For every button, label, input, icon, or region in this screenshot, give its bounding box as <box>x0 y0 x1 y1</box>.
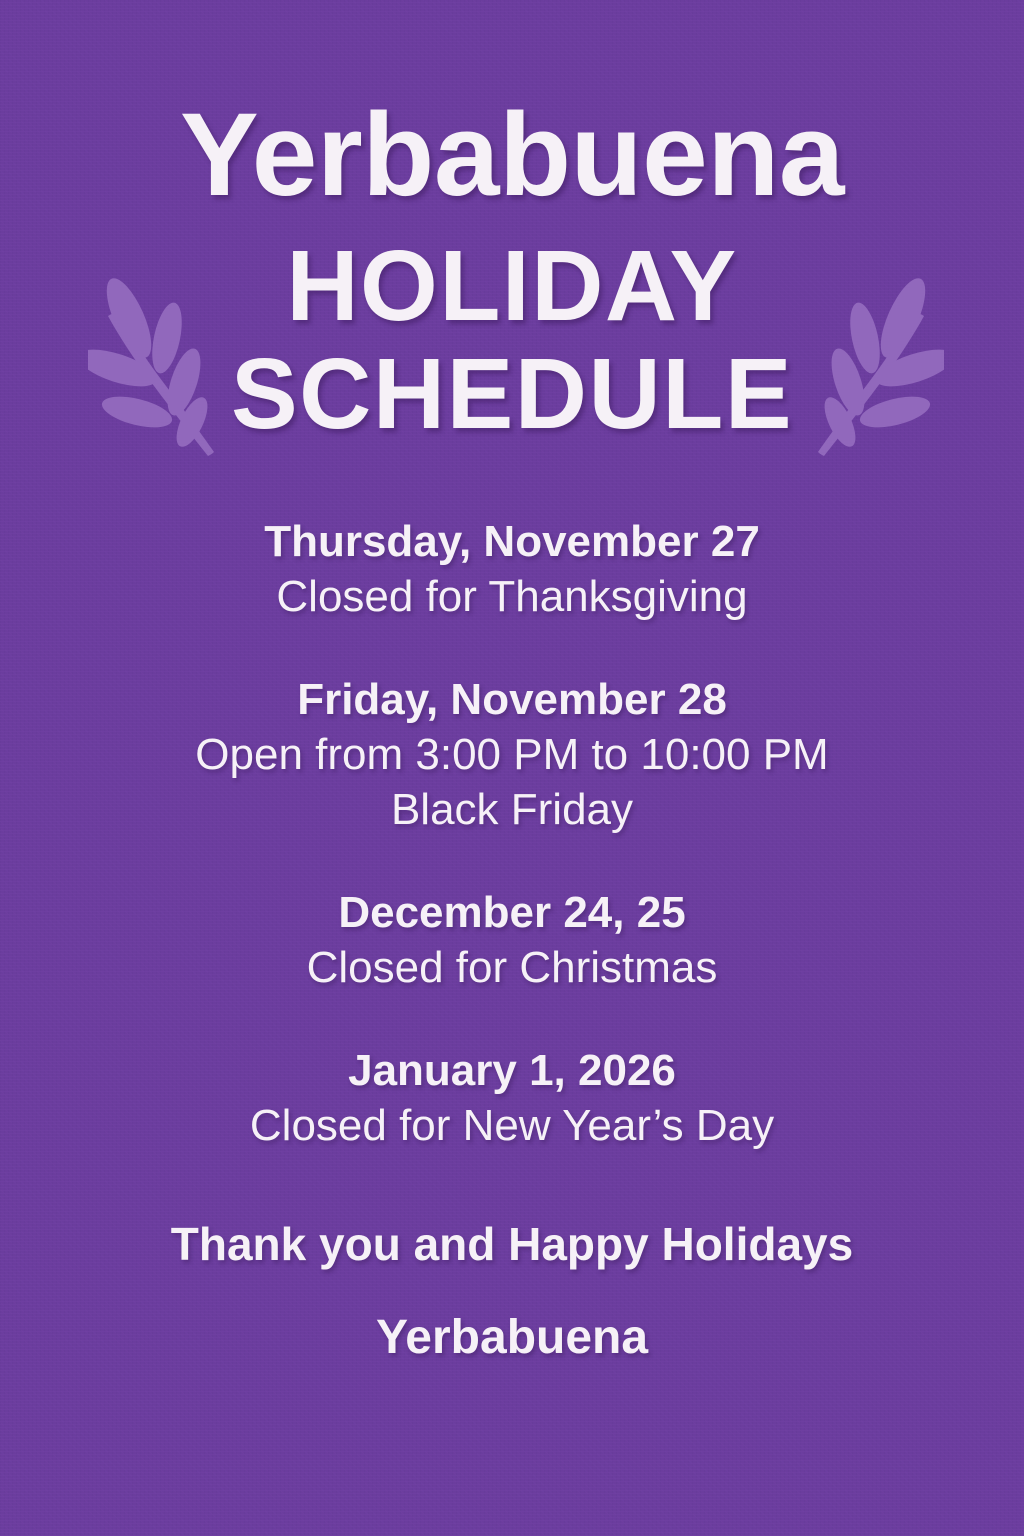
entry-date: Friday, November 28 <box>0 672 1024 727</box>
holiday-heading-word: HOLIDAY <box>0 230 1024 342</box>
footer-business-name: Yerbabuena <box>0 1307 1024 1369</box>
entry-detail: Closed for New Year’s Day <box>0 1098 1024 1153</box>
entry-detail: Open from 3:00 PM to 10:00 PM <box>0 727 1024 782</box>
poster-header: Yerbabuena HOLIDAY SCHEDULE <box>0 0 1024 450</box>
schedule-entry: January 1, 2026 Closed for New Year’s Da… <box>0 1043 1024 1153</box>
entry-date: January 1, 2026 <box>0 1043 1024 1098</box>
schedule-entry: Thursday, November 27 Closed for Thanksg… <box>0 514 1024 624</box>
schedule-heading-word: SCHEDULE <box>0 338 1024 450</box>
entry-detail: Closed for Christmas <box>0 940 1024 995</box>
entry-date: Thursday, November 27 <box>0 514 1024 569</box>
poster-footer: Thank you and Happy Holidays Yerbabuena <box>0 1215 1024 1369</box>
entry-detail: Black Friday <box>0 782 1024 837</box>
entry-detail: Closed for Thanksgiving <box>0 569 1024 624</box>
holiday-schedule-poster: Yerbabuena HOLIDAY SCHEDULE Thursday, No… <box>0 0 1024 1536</box>
schedule-entry: December 24, 25 Closed for Christmas <box>0 885 1024 995</box>
schedule-entry: Friday, November 28 Open from 3:00 PM to… <box>0 672 1024 837</box>
schedule-list: Thursday, November 27 Closed for Thanksg… <box>0 514 1024 1153</box>
business-name-title: Yerbabuena <box>0 0 1024 214</box>
footer-thanks-message: Thank you and Happy Holidays <box>0 1215 1024 1275</box>
entry-date: December 24, 25 <box>0 885 1024 940</box>
